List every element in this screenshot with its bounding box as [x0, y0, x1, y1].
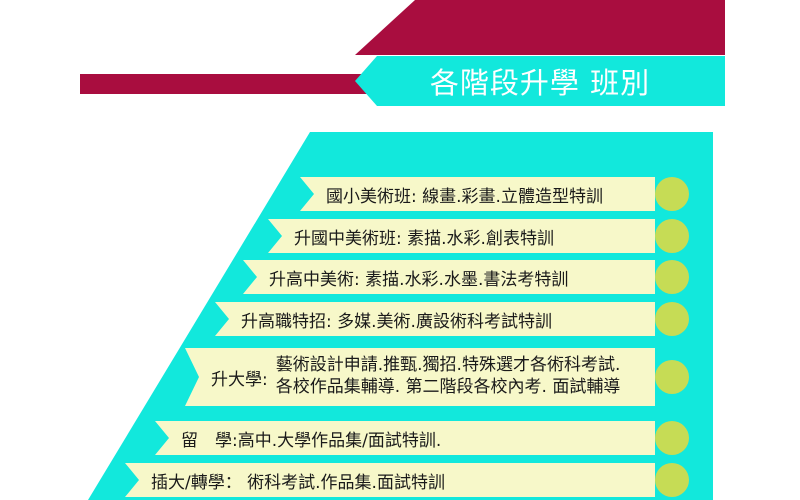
bullet-dot-icon [655, 421, 689, 455]
list-item[interactable]: 升高職特招: 多媒.美術.廣設術科考試特訓 [215, 302, 655, 336]
page-title: 各階段升學 班別 [390, 58, 690, 104]
list-item-label-line1: 藝術設計申請.推甄.獨招.特殊選才各術科考試. [276, 355, 621, 377]
bullet-dot-icon [655, 260, 689, 294]
header-red-banner [355, 0, 725, 55]
list-item-label: 國小美術班: 線畫.彩畫.立體造型特訓 [300, 182, 603, 207]
list-item[interactable]: 升高中美術: 素描.水彩.水墨.書法考特訓 [243, 260, 655, 294]
list-item[interactable]: 國小美術班: 線畫.彩畫.立體造型特訓 [300, 177, 655, 211]
slide-canvas: 各階段升學 班別 國小美術班: 線畫.彩畫.立體造型特訓 升國中美術班: 素描.… [0, 0, 800, 500]
bullet-dot-icon [655, 463, 689, 497]
bullet-dot-icon [655, 219, 689, 253]
list-item[interactable]: 插大/轉學： 術科考試.作品集.面試特訓 [125, 463, 655, 497]
list-item-label: 升國中美術班: 素描.水彩.創表特訓 [268, 224, 554, 249]
list-item[interactable]: 升大學: 藝術設計申請.推甄.獨招.特殊選才各術科考試. 各校作品集輔導. 第二… [185, 348, 655, 406]
list-item-label: 留 學:高中.大學作品集/面試特訓. [155, 426, 441, 451]
header-red-rule [80, 74, 380, 94]
list-item-label-line2: 各校作品集輔導. 第二階段各校內考. 面試輔導 [276, 377, 621, 399]
list-item[interactable]: 留 學:高中.大學作品集/面試特訓. [155, 421, 655, 455]
bullet-dot-icon [655, 302, 689, 336]
list-item-detail: 藝術設計申請.推甄.獨招.特殊選才各術科考試. 各校作品集輔導. 第二階段各校內… [276, 355, 621, 399]
list-item-label: 插大/轉學： 術科考試.作品集.面試特訓 [125, 468, 445, 493]
list-item[interactable]: 升國中美術班: 素描.水彩.創表特訓 [268, 219, 655, 253]
bullet-dot-icon [655, 177, 689, 211]
list-item-label: 升高職特招: 多媒.美術.廣設術科考試特訓 [215, 307, 552, 332]
list-item-label: 升高中美術: 素描.水彩.水墨.書法考特訓 [243, 265, 568, 290]
bullet-dot-icon [655, 360, 689, 394]
